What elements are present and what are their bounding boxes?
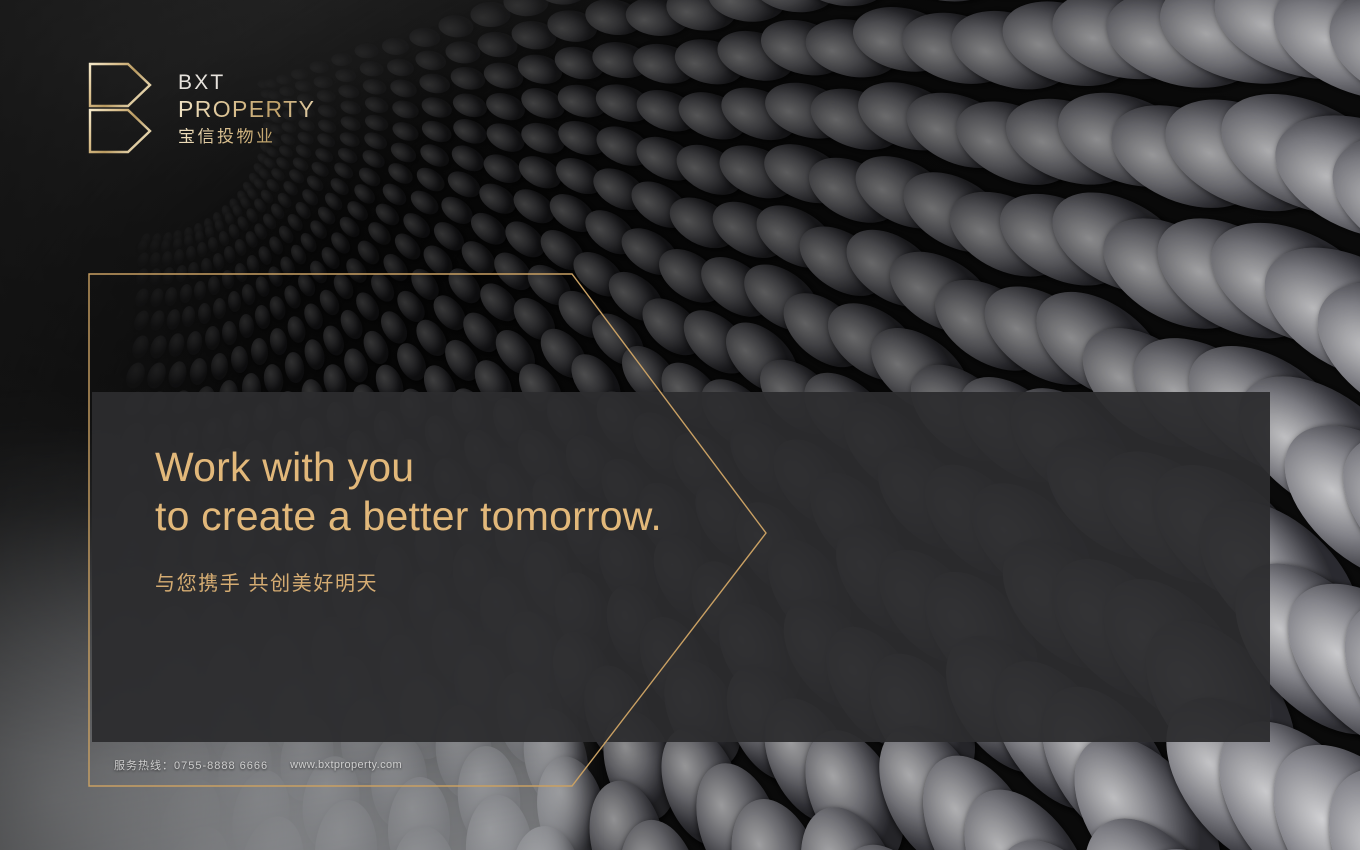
hero-headline-line1: Work with you <box>155 447 855 488</box>
footer-bar: 服务热线：0755-8888 6666 www.bxtproperty.com <box>114 757 402 773</box>
footer-hotline: 服务热线：0755-8888 6666 <box>114 757 268 773</box>
footer-website[interactable]: www.bxtproperty.com <box>290 759 402 771</box>
hero-headline-block: Work with you to create a better tomorro… <box>155 447 855 596</box>
hero-headline-line2: to create a better tomorrow. <box>155 496 855 537</box>
bxt-b-monogram-icon <box>88 62 156 154</box>
brand-logo[interactable]: BXT PROPERTY 宝信投物业 <box>88 62 315 154</box>
brand-name-cn: 宝信投物业 <box>178 128 315 145</box>
presentation-slide: BXT PROPERTY 宝信投物业 Work with you to crea… <box>0 0 1360 850</box>
brand-name-en-line1: BXT <box>178 72 315 93</box>
hero-subheadline-cn: 与您携手 共创美好明天 <box>155 567 855 596</box>
brand-wordmark: BXT PROPERTY 宝信投物业 <box>178 72 315 145</box>
brand-name-en-line2: PROPERTY <box>178 98 315 121</box>
